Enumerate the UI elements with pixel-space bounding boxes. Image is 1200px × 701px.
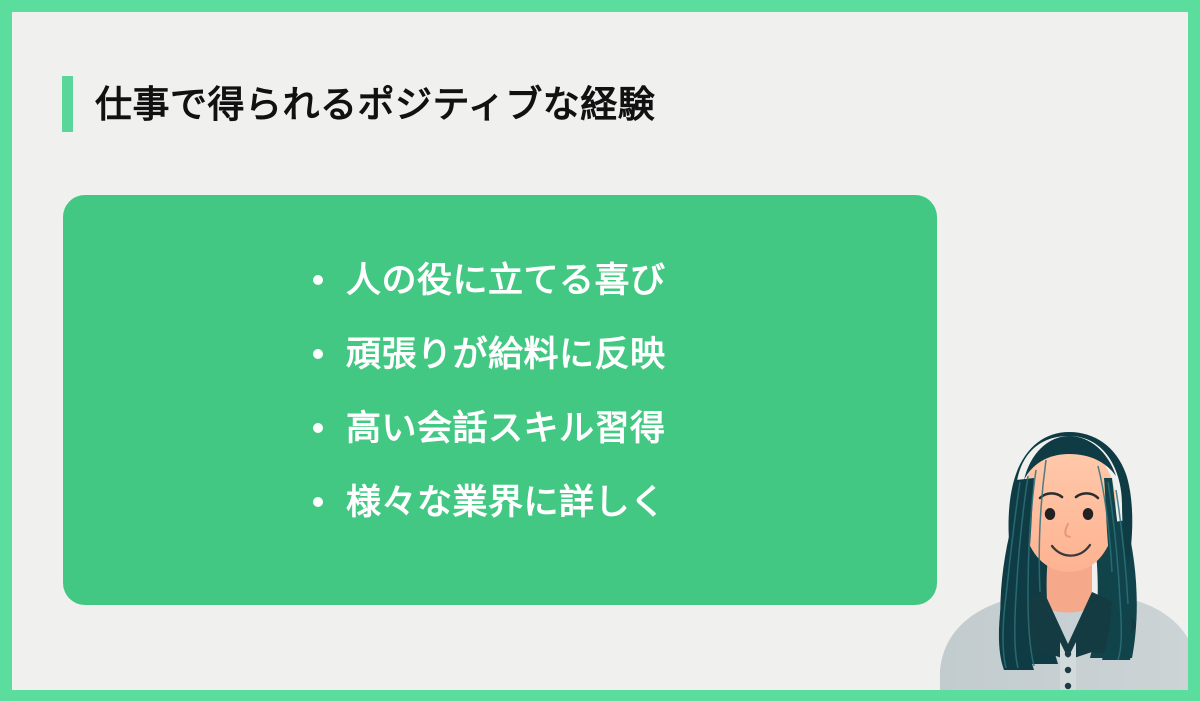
page-title-text: 仕事で得られるポジティブな経験 (95, 86, 655, 123)
title-accent-bar (62, 76, 73, 132)
bullet-dot-icon (313, 275, 323, 285)
bullet-dot-icon (313, 423, 323, 433)
content-card: 人の役に立てる喜び 頑張りが給料に反映 高い会話スキル習得 様々な業界に詳しく (63, 195, 937, 605)
bullet-list: 人の役に立てる喜び 頑張りが給料に反映 高い会話スキル習得 様々な業界に詳しく (313, 243, 666, 539)
slide-frame: 仕事で得られるポジティブな経験 人の役に立てる喜び 頑張りが給料に反映 高い会話… (0, 0, 1200, 701)
list-item-label: 人の役に立てる喜び (346, 263, 666, 298)
shirt-button (1065, 667, 1071, 673)
bullet-dot-icon (313, 349, 323, 359)
eye-right (1083, 508, 1093, 520)
bullet-dot-icon (313, 497, 323, 507)
list-item-label: 様々な業界に詳しく (346, 485, 666, 520)
list-item-label: 頑張りが給料に反映 (346, 337, 666, 372)
woman-portrait-illustration (940, 420, 1188, 690)
list-item: 高い会話スキル習得 (313, 391, 666, 465)
list-item-label: 高い会話スキル習得 (346, 411, 666, 446)
slide-canvas: 仕事で得られるポジティブな経験 人の役に立てる喜び 頑張りが給料に反映 高い会話… (12, 12, 1188, 690)
page-title: 仕事で得られるポジティブな経験 (62, 74, 655, 134)
list-item: 人の役に立てる喜び (313, 243, 666, 317)
shirt-button (1065, 651, 1071, 657)
list-item: 様々な業界に詳しく (313, 465, 666, 539)
eye-left (1045, 508, 1055, 520)
list-item: 頑張りが給料に反映 (313, 317, 666, 391)
shirt-button (1065, 683, 1071, 689)
face-shape (1022, 448, 1116, 572)
